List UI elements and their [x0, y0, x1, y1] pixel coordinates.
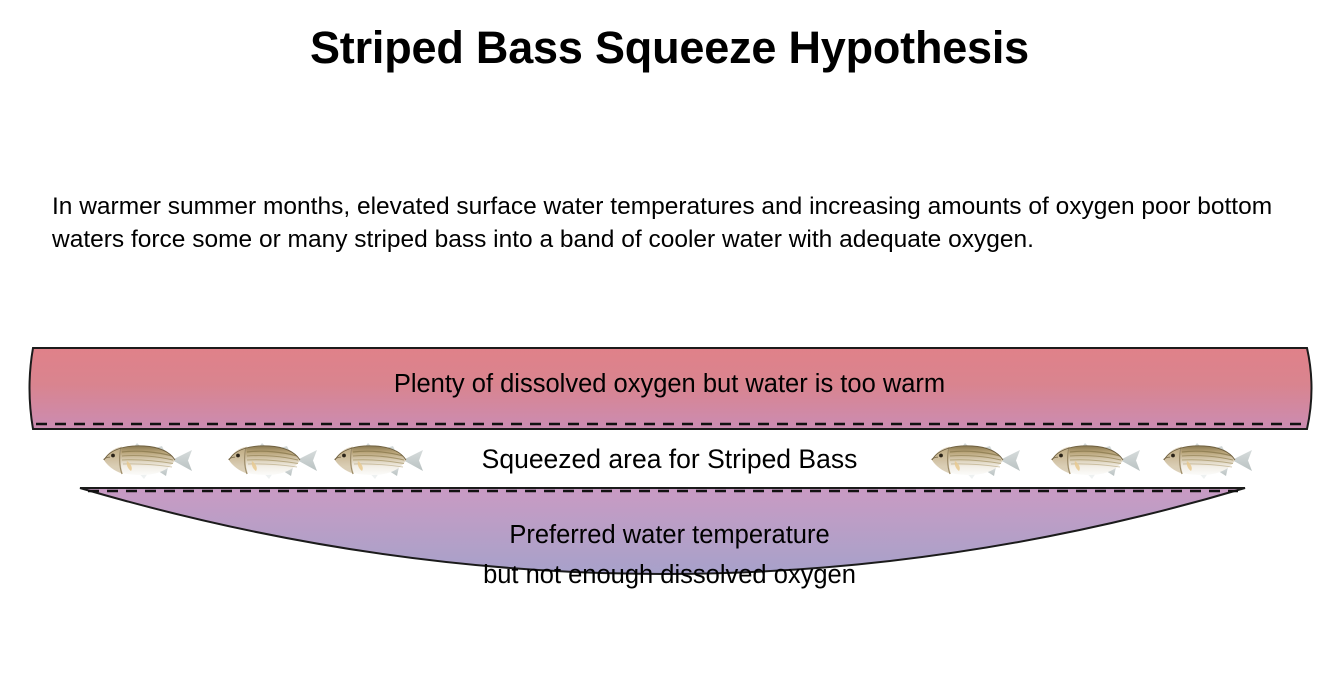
- striped-bass-squeeze-diagram: Plenty of dissolved oxygen but water is …: [0, 330, 1339, 660]
- striped-bass-icon: [225, 438, 320, 484]
- bottom-layer-label-line1: Preferred water temperature: [0, 515, 1339, 555]
- slide-canvas: Striped Bass Squeeze Hypothesis In warme…: [0, 0, 1339, 692]
- striped-bass-icon: [928, 438, 1023, 484]
- striped-bass-icon: [1160, 438, 1255, 484]
- intro-paragraph: In warmer summer months, elevated surfac…: [52, 190, 1284, 256]
- bottom-layer-label-line2: but not enough dissolved oxygen: [0, 555, 1339, 595]
- top-layer-label: Plenty of dissolved oxygen but water is …: [0, 370, 1339, 399]
- page-title: Striped Bass Squeeze Hypothesis: [0, 22, 1339, 74]
- striped-bass-icon: [1048, 438, 1143, 484]
- striped-bass-icon: [100, 438, 195, 484]
- bottom-layer-label: Preferred water temperature but not enou…: [0, 515, 1339, 595]
- striped-bass-icon: [331, 438, 426, 484]
